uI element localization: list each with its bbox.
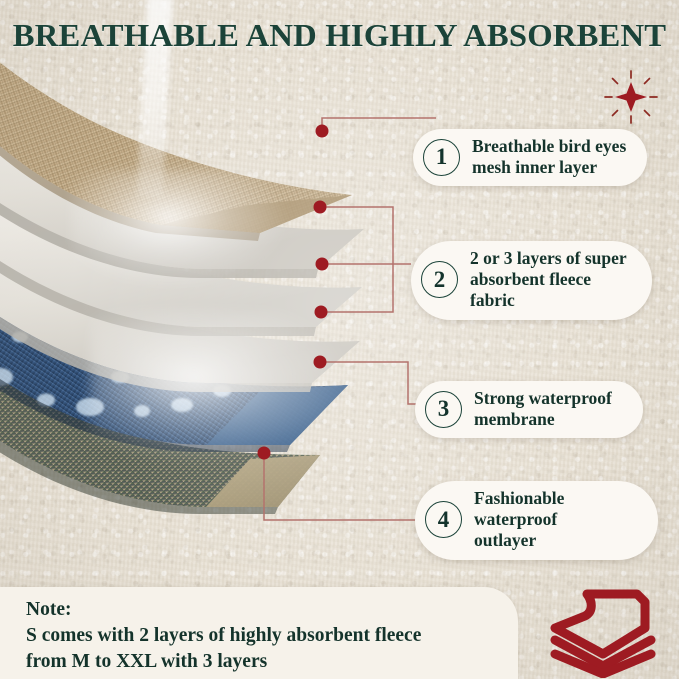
callout-number-3: 3	[425, 391, 462, 428]
note-panel: Note: S comes with 2 layers of highly ab…	[0, 587, 518, 679]
callout-number-4: 4	[425, 501, 462, 538]
callout-number-1: 1	[423, 139, 460, 176]
callout-1[interactable]: 1 Breathable bird eyes mesh inner layer	[413, 129, 647, 186]
note-text: Note: S comes with 2 layers of highly ab…	[26, 597, 496, 675]
sparkle-icon	[604, 70, 658, 124]
water-splash-lower	[90, 310, 350, 460]
callout-text-3: Strong waterproof membrane	[474, 388, 612, 430]
infographic-canvas: BREATHABLE AND HIGHLY ABSORBENT	[0, 0, 679, 679]
product-layer-stack-illustration	[0, 55, 390, 565]
callout-text-1: Breathable bird eyes mesh inner layer	[472, 136, 626, 178]
callout-text-2: 2 or 3 layers of super absorbent fleece …	[470, 248, 634, 312]
water-splash-upper	[70, 170, 290, 290]
callout-number-2: 2	[421, 261, 458, 298]
callout-4[interactable]: 4 Fashionable waterproof outlayer	[415, 481, 658, 560]
page-title: BREATHABLE AND HIGHLY ABSORBENT	[0, 17, 679, 54]
stacked-layers-icon	[541, 582, 665, 678]
callout-text-4: Fashionable waterproof outlayer	[474, 488, 640, 552]
callout-2[interactable]: 2 2 or 3 layers of super absorbent fleec…	[411, 241, 652, 320]
callout-3[interactable]: 3 Strong waterproof membrane	[415, 381, 643, 438]
